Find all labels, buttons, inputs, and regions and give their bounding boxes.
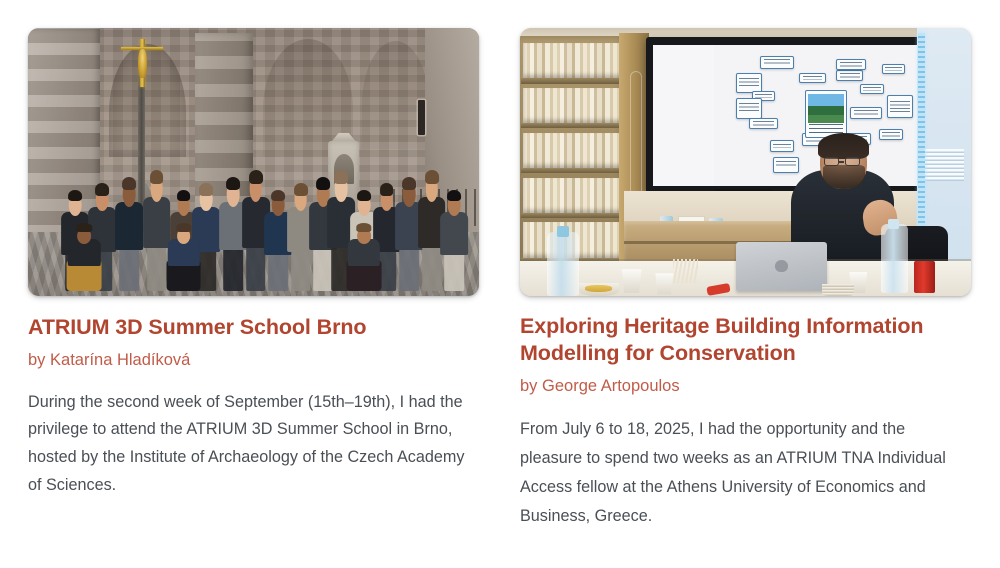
slide-note-card [760, 56, 794, 69]
slide-note-card [770, 140, 794, 151]
eyeglasses-icon [824, 157, 839, 166]
shelf-lip [521, 123, 625, 128]
cards-grid: ATRIUM 3D Summer School Brno by Katarína… [28, 28, 972, 531]
shelf-lip [521, 213, 625, 218]
card-headline[interactable]: ATRIUM 3D Summer School Brno [28, 314, 479, 341]
shelf-lip [521, 168, 625, 173]
crucifix-figure [138, 49, 147, 77]
card-byline: by George Artopoulos [520, 376, 971, 397]
slide-note-card [736, 73, 763, 93]
card-headline[interactable]: Exploring Heritage Building Information … [520, 313, 971, 367]
shelf-row [523, 178, 623, 213]
presenter-hair [818, 133, 869, 160]
slide-note-card [836, 70, 863, 81]
shelf-row [523, 88, 623, 123]
soda-can [914, 261, 935, 293]
slide-note-card [850, 107, 882, 120]
person-crouching [163, 222, 204, 291]
shelf-row [523, 43, 623, 78]
news-cards-page: ATRIUM 3D Summer School Brno by Katarína… [0, 0, 1000, 568]
card-image-hbim[interactable] [520, 28, 971, 296]
person-crouching [344, 222, 385, 291]
laptop-logo-icon [775, 260, 789, 272]
slide-surface [653, 45, 918, 186]
snacks [585, 285, 612, 292]
presentation-screen [646, 37, 926, 192]
person-crouching [64, 222, 105, 291]
window-blinds [924, 149, 965, 181]
slide-note-card [879, 129, 903, 140]
group-of-people [28, 119, 479, 291]
cutlery-holder [673, 259, 698, 283]
eyeglasses-icon [845, 157, 860, 166]
shelf-row [523, 133, 623, 168]
slide-note-card [860, 84, 884, 94]
plate-stack [822, 284, 854, 296]
card-byline: by Katarína Hladíková [28, 350, 479, 371]
shelf-lip [521, 78, 625, 83]
water-bottle [881, 224, 908, 294]
slide-note-card [736, 98, 763, 119]
slide-left-panel [653, 45, 714, 186]
water-bottle [547, 232, 579, 296]
slide-image-card [805, 90, 847, 138]
slide-note-card [887, 95, 914, 118]
slide-note-card [836, 59, 865, 70]
card-excerpt: During the second week of September (15t… [28, 389, 479, 500]
bottle-cap [888, 219, 899, 229]
person [438, 184, 470, 290]
eyeglasses-bridge [838, 161, 843, 163]
presenter-beard [823, 165, 865, 189]
slide-note-card [882, 64, 906, 74]
card-excerpt: From July 6 to 18, 2025, I had the oppor… [520, 415, 971, 532]
card-image-summer-school[interactable] [28, 28, 479, 296]
slide-note-card [749, 118, 778, 129]
bottle-cap [557, 226, 569, 237]
slide-note-card [773, 157, 800, 173]
news-card-hbim[interactable]: Exploring Heritage Building Information … [520, 28, 971, 531]
slide-note-card [799, 73, 826, 83]
news-card-summer-school[interactable]: ATRIUM 3D Summer School Brno by Katarína… [28, 28, 479, 531]
